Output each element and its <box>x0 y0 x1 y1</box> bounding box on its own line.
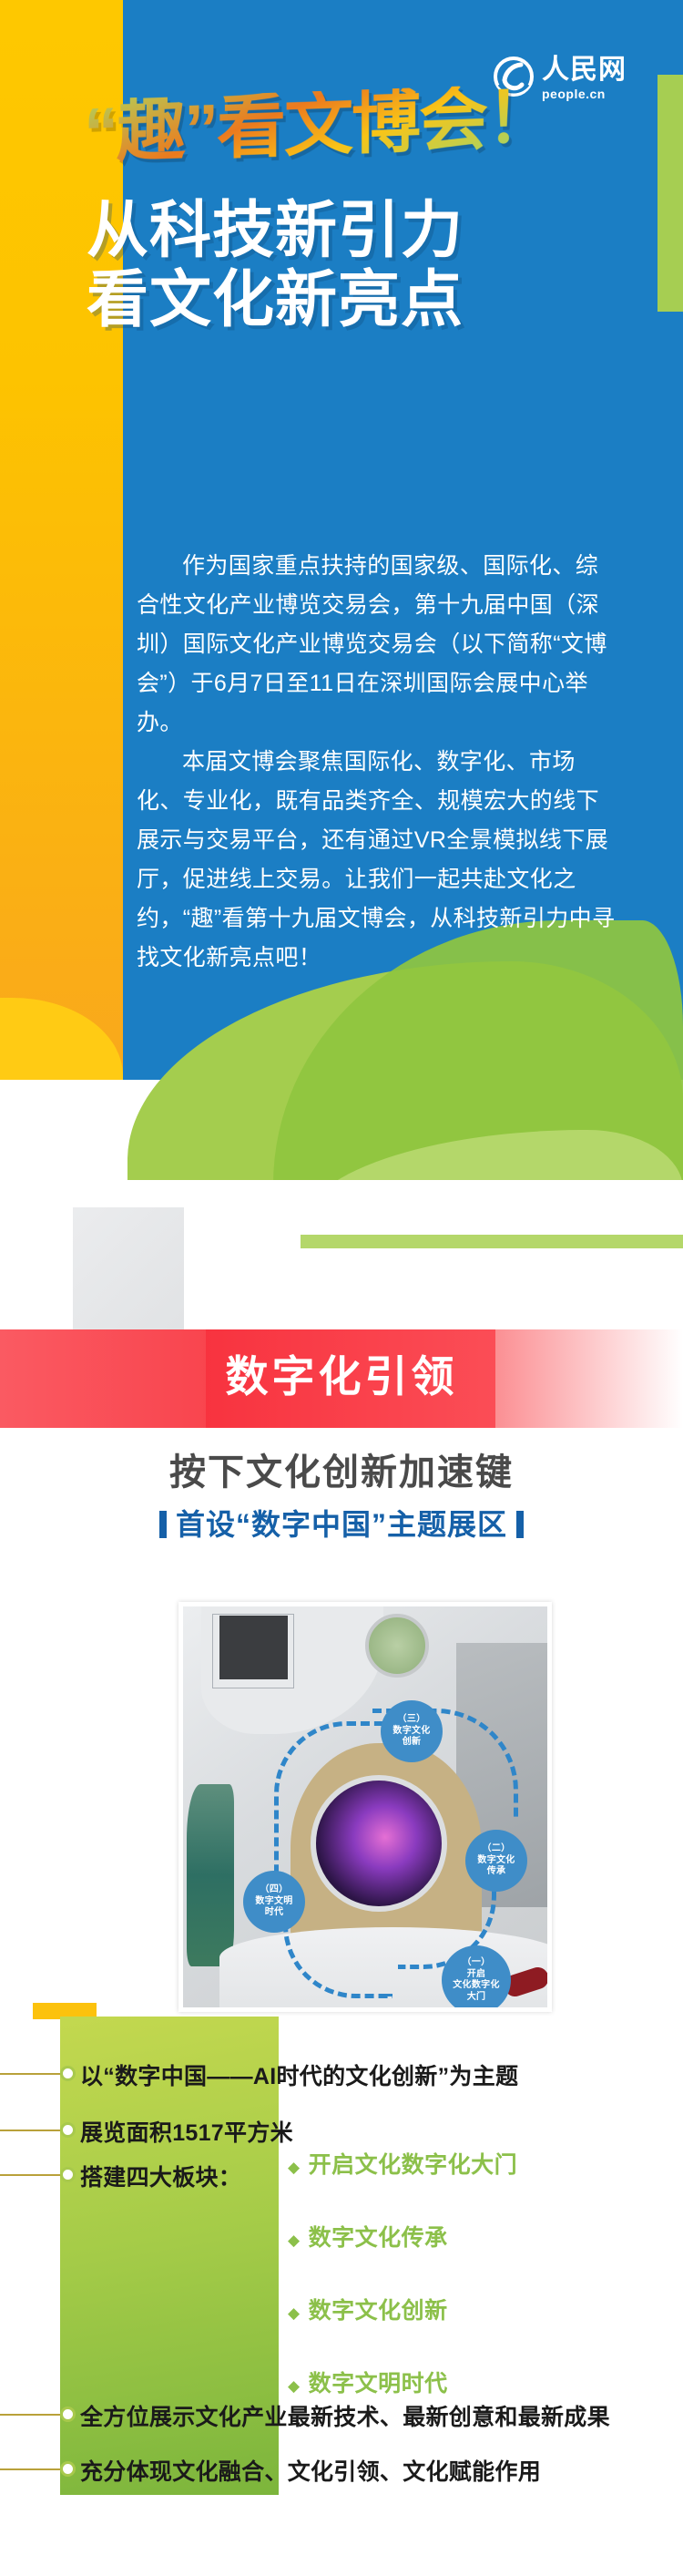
photo-callout-one[interactable]: （一） 开启 文化数字化 大门 <box>442 1945 511 2012</box>
section-subtitle: 按下文化创新加速键 <box>0 1442 683 1495</box>
callout-three-line2: 创新 <box>403 1737 422 1749</box>
callout-two-line1: 数字文化 <box>477 1855 515 1867</box>
sub-fact-4: ◆数字文明时代 <box>288 2366 517 2398</box>
sub-fact-text-1: 开启文化数字化大门 <box>309 2152 518 2178</box>
green-accent-tab <box>658 75 683 312</box>
fact-text-3: 搭建四大板块： <box>80 2160 241 2192</box>
fact-bullet-dot-2 <box>60 2122 76 2138</box>
callout-two-line2: 传承 <box>487 1866 506 1878</box>
photo-round-garden <box>365 1614 429 1678</box>
right-bar-icon <box>516 1511 524 1538</box>
fact-text-2: 展览面积1517平方米 <box>80 2115 293 2148</box>
photo-dark-exhibit <box>219 1616 288 1679</box>
hero-paragraph-2: 本届文博会聚焦国际化、数字化、市场化、专业化，既有品类齐全、规模宏大的线下展示与… <box>137 743 619 978</box>
fact-bullet-dot-1 <box>60 2066 76 2081</box>
logo-text-cn: 人民网 <box>542 56 627 84</box>
diamond-bullet-icon-4: ◆ <box>288 2377 301 2395</box>
sub-fact-text-4: 数字文明时代 <box>309 2371 448 2396</box>
blue-subheading-text: 首设“数字中国”主题展区 <box>176 1508 507 1541</box>
photo-green-exhibit <box>187 1784 234 1966</box>
left-bar-icon <box>159 1511 167 1538</box>
hero-left-mask <box>0 1080 123 1180</box>
fact-text-5: 充分体现文化融合、文化引领、文化赋能作用 <box>80 2454 541 2487</box>
sub-fact-3: ◆数字文化创新 <box>288 2293 517 2325</box>
fact-bullet-dot-3 <box>60 2167 76 2182</box>
sub-fact-1: ◆开启文化数字化大门 <box>288 2147 517 2180</box>
sub-fact-list: ◆开启文化数字化大门 ◆数字文化传承 ◆数字文化创新 ◆数字文明时代 <box>288 2147 517 2438</box>
blue-subheading: 首设“数字中国”主题展区 <box>0 1502 683 1544</box>
fact-leader-line-4 <box>0 2414 69 2416</box>
page-title: 从科技新引力 看文化新亮点 <box>87 196 464 334</box>
photo-callout-two[interactable]: （二） 数字文化 传承 <box>465 1830 527 1892</box>
fact-bullet-dot-4 <box>60 2407 76 2422</box>
fact-leader-line-3 <box>0 2174 69 2176</box>
diamond-bullet-icon-1: ◆ <box>288 2159 301 2176</box>
callout-two-num: （二） <box>483 1843 511 1855</box>
hero-paragraph-1: 作为国家重点扶持的国家级、国际化、综合性文化产业博览交易会，第十九届中国（深圳）… <box>137 547 619 743</box>
page-title-line2: 看文化新亮点 <box>87 265 464 334</box>
fact-leader-line-5 <box>0 2468 69 2470</box>
callout-four-line1: 数字文明 <box>255 1896 292 1908</box>
hero-kicker: “趣”看文博会！ <box>84 83 554 169</box>
hero-section: 人民网 people.cn “趣”看文博会！ 从科技新引力 看文化新亮点 作为国… <box>0 0 683 1175</box>
exhibition-photo: （三） 数字文化 创新 （二） 数字文化 传承 （一） 开启 文化数字化 大门 … <box>178 1602 552 2012</box>
diamond-bullet-icon-2: ◆ <box>288 2232 301 2249</box>
photo-callout-four[interactable]: （四） 数字文明 时代 <box>243 1871 305 1933</box>
connector-four-three <box>274 1721 383 1890</box>
sub-fact-text-2: 数字文化传承 <box>309 2225 448 2251</box>
section-banner-title: 数字化引领 <box>0 1341 683 1404</box>
callout-four-num: （四） <box>260 1884 289 1896</box>
callout-one-num: （一） <box>463 1957 491 1969</box>
page-title-line1: 从科技新引力 <box>87 196 464 265</box>
fact-bullet-dot-5 <box>60 2461 76 2477</box>
callout-three-line1: 数字文化 <box>392 1726 430 1738</box>
fact-leader-line-2 <box>0 2130 69 2131</box>
diamond-bullet-icon-3: ◆ <box>288 2304 301 2322</box>
callout-one-line1: 开启 <box>467 1969 486 1981</box>
logo-text-en: people.cn <box>542 87 627 100</box>
sub-fact-text-3: 数字文化创新 <box>309 2298 448 2324</box>
photo-callout-three[interactable]: （三） 数字文化 创新 <box>381 1700 443 1762</box>
fact-text-1: 以“数字中国——AI时代的文化创新”为主题 <box>80 2058 518 2091</box>
callout-one-line3: 大门 <box>467 1992 486 2004</box>
callout-three-num: （三） <box>398 1714 426 1726</box>
hero-body-text: 作为国家重点扶持的国家级、国际化、综合性文化产业博览交易会，第十九届中国（深圳）… <box>137 547 619 978</box>
sub-fact-2: ◆数字文化传承 <box>288 2220 517 2253</box>
callout-one-line2: 文化数字化 <box>453 1980 500 1992</box>
fact-leader-line-1 <box>0 2073 69 2075</box>
callout-four-line2: 时代 <box>265 1907 284 1919</box>
yellow-wave-shape <box>0 998 123 1084</box>
